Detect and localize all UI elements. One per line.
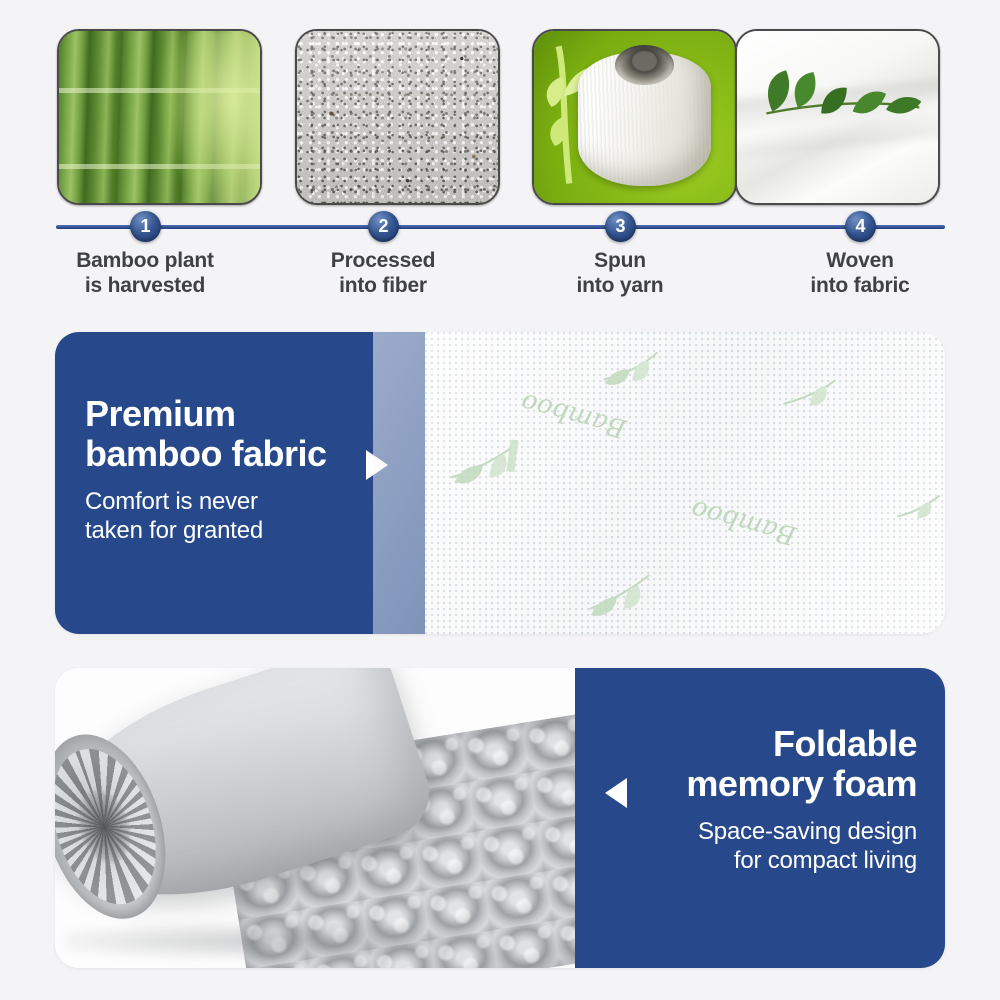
triangle-left-icon bbox=[605, 778, 627, 808]
step-caption-4: Woven into fabric bbox=[740, 248, 980, 298]
bamboo-fabric-photo: Bamboo Bamboo bbox=[425, 332, 945, 634]
panel-foldable-memory-foam: Foldable memory foam Space-saving design… bbox=[55, 668, 945, 968]
foam-drop-shadow bbox=[65, 920, 512, 962]
process-thumbnail-2 bbox=[295, 29, 500, 205]
yarn-spool-image bbox=[534, 31, 735, 203]
yarn-cone bbox=[578, 52, 711, 186]
process-timeline bbox=[56, 225, 945, 229]
foam-sub-line1: Space-saving design bbox=[575, 817, 917, 846]
step-caption-3-line2: into yarn bbox=[500, 273, 740, 298]
step-caption-2-line2: into fiber bbox=[263, 273, 503, 298]
process-thumbnail-3 bbox=[532, 29, 737, 205]
panel-premium-bamboo-fabric: Premium bamboo fabric Comfort is never t… bbox=[55, 332, 945, 634]
step-badge-2: 2 bbox=[368, 211, 399, 242]
folded-fabric-image bbox=[737, 31, 938, 203]
bamboo-fiber-image bbox=[297, 31, 498, 203]
fabric-text-block: Premium bamboo fabric Comfort is never t… bbox=[55, 332, 425, 634]
fabric-sprig-icon-4 bbox=[582, 561, 658, 632]
foam-subheading: Space-saving design for compact living bbox=[575, 817, 917, 875]
step-badge-1: 1 bbox=[130, 211, 161, 242]
step-badge-4: 4 bbox=[845, 211, 876, 242]
step-caption-4-line1: Woven bbox=[740, 248, 980, 273]
foam-text-block: Foldable memory foam Space-saving design… bbox=[575, 668, 945, 968]
step-badge-3: 3 bbox=[605, 211, 636, 242]
bamboo-sprig-icon bbox=[737, 31, 938, 204]
step-caption-1: Bamboo plant is harvested bbox=[25, 248, 265, 298]
bamboo-grove-image bbox=[59, 31, 260, 203]
foam-heading-line1: Foldable bbox=[575, 724, 917, 764]
memory-foam-photo bbox=[55, 668, 575, 968]
step-caption-1-line1: Bamboo plant bbox=[25, 248, 265, 273]
step-caption-4-line2: into fabric bbox=[740, 273, 980, 298]
fabric-sprig-icon-2 bbox=[443, 427, 525, 503]
infographic-root: 1 2 3 4 Bamboo plant is harvested Proces… bbox=[0, 0, 1000, 1000]
fabric-sprig-icon-5 bbox=[889, 480, 945, 536]
step-caption-2-line1: Processed bbox=[263, 248, 503, 273]
process-thumbnail-1 bbox=[57, 29, 262, 205]
step-caption-2: Processed into fiber bbox=[263, 248, 503, 298]
step-caption-3-line1: Spun bbox=[500, 248, 740, 273]
step-caption-3: Spun into yarn bbox=[500, 248, 740, 298]
process-thumbnail-4 bbox=[735, 29, 940, 205]
fabric-sprig-icon-3 bbox=[775, 362, 843, 427]
step-caption-1-line2: is harvested bbox=[25, 273, 265, 298]
fabric-sprig-icon-1 bbox=[596, 337, 667, 403]
foam-sub-line2: for compact living bbox=[575, 846, 917, 875]
bamboo-process-strip: 1 2 3 4 Bamboo plant is harvested Proces… bbox=[0, 0, 1000, 310]
